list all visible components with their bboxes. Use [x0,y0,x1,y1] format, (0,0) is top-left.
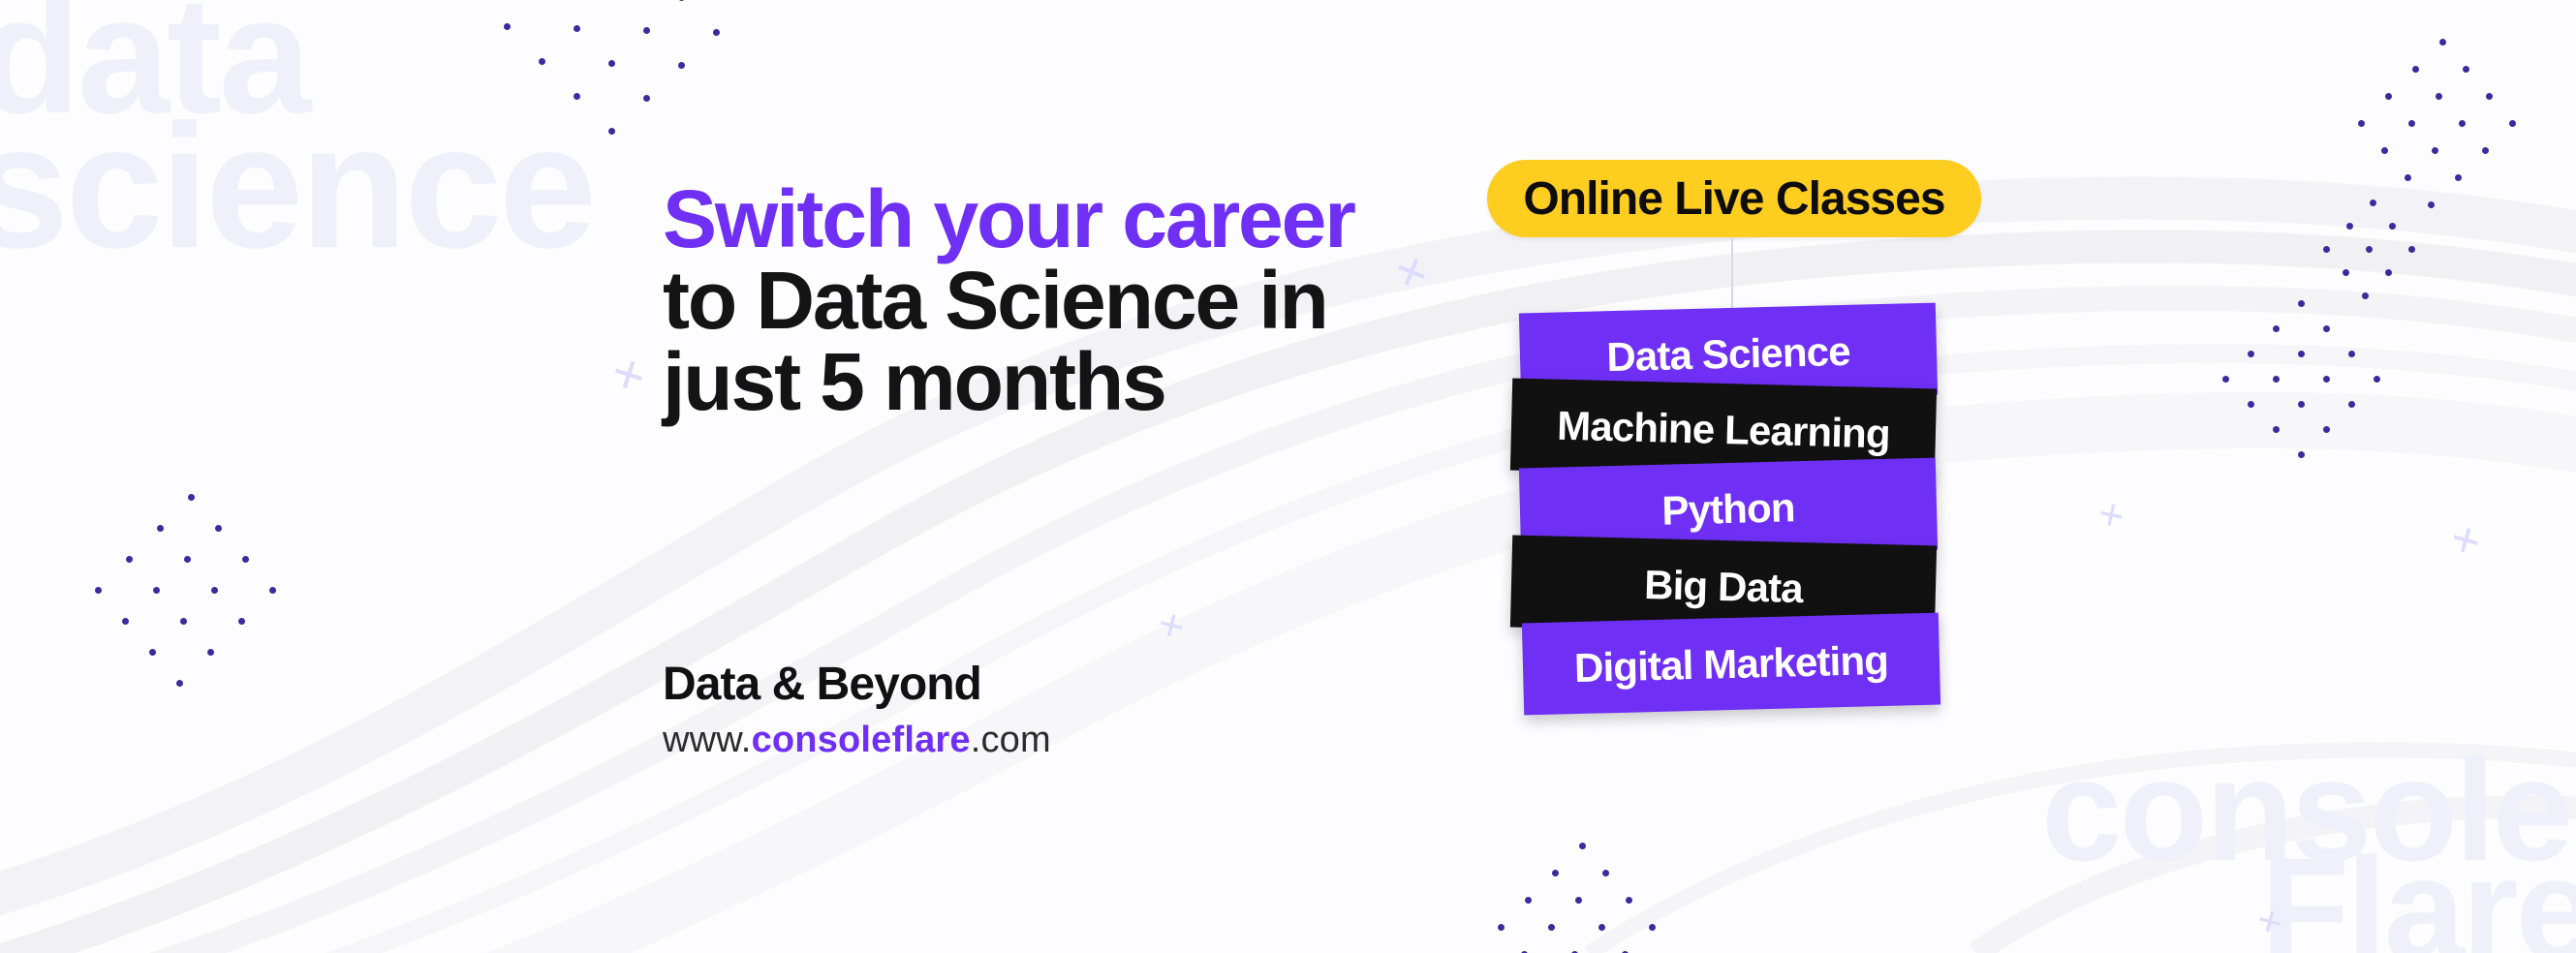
watermark-flare: Flare [2260,845,2576,953]
badge-label: Online Live Classes [1523,172,1944,226]
headline-line-2: to Data Science in [663,260,1399,341]
course-card-label: Data Science [1606,327,1851,380]
brand-name: Data & Beyond [663,658,981,711]
plus-mark-icon: + [2444,512,2487,569]
url-brand: consoleflare [752,720,971,760]
banner-root: data science console Flare + + + + + + [0,0,2576,953]
plus-mark-icon: + [605,343,653,407]
badge-connector-line [1731,237,1733,312]
course-card-digital-marketing[interactable]: Digital Marketing [1522,613,1940,716]
online-live-classes-badge[interactable]: Online Live Classes [1487,160,1981,237]
watermark-science: science [0,108,593,263]
headline-line-3: just 5 months [663,341,1399,422]
headline-line-1: Switch your career [663,178,1399,260]
course-card-label: Python [1661,484,1795,534]
url-suffix: .com [971,720,1051,760]
url-prefix: www. [663,720,752,760]
course-card-stack: Data Science Machine Learning Python Big… [1511,308,1967,802]
plus-mark-icon: + [2095,490,2129,539]
course-card-label: Big Data [1644,561,1804,611]
course-card-label: Digital Marketing [1573,636,1888,691]
plus-mark-icon: + [1154,599,1190,649]
website-url[interactable]: www.consoleflare.com [663,720,1051,761]
page-title: Switch your career to Data Science in ju… [663,178,1399,422]
course-card-label: Machine Learning [1557,402,1891,457]
